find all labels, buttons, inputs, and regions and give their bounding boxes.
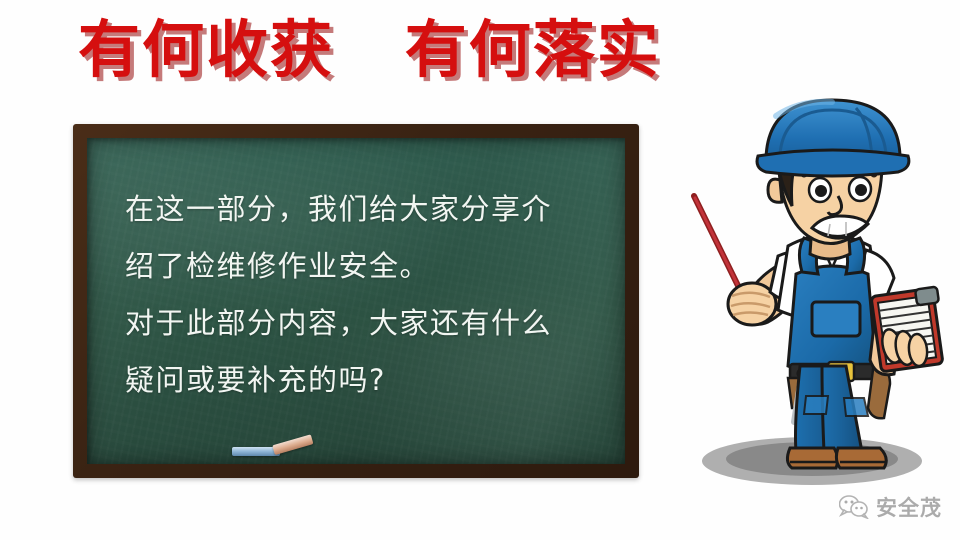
mouth [812,216,868,238]
watermark-label: 安全茂 [876,492,942,522]
hard-hat-brim [757,150,909,176]
wechat-icon [839,495,869,519]
pink-chalk-icon [272,434,313,455]
left-boot [787,448,837,468]
page-title: 有何收获 有何落实 [78,14,661,85]
wechat-watermark: 安全茂 [839,492,942,522]
bib-pocket [812,302,860,336]
blackboard-surface: 在这一部分，我们给大家分享介 绍了检维修作业安全。 对于此部分内容，大家还有什么… [87,138,625,464]
safety-worker-illustration [660,96,960,500]
blackboard: 在这一部分，我们给大家分享介 绍了检维修作业安全。 对于此部分内容，大家还有什么… [73,124,639,478]
right-boot [836,448,886,468]
blackboard-text: 在这一部分，我们给大家分享介 绍了检维修作业安全。 对于此部分内容，大家还有什么… [125,181,605,409]
left-fist [728,283,776,325]
ear [768,179,782,202]
slide-canvas: 有何收获 有何落实 在这一部分，我们给大家分享介 绍了检维修作业安全。 对于此部… [0,0,960,540]
